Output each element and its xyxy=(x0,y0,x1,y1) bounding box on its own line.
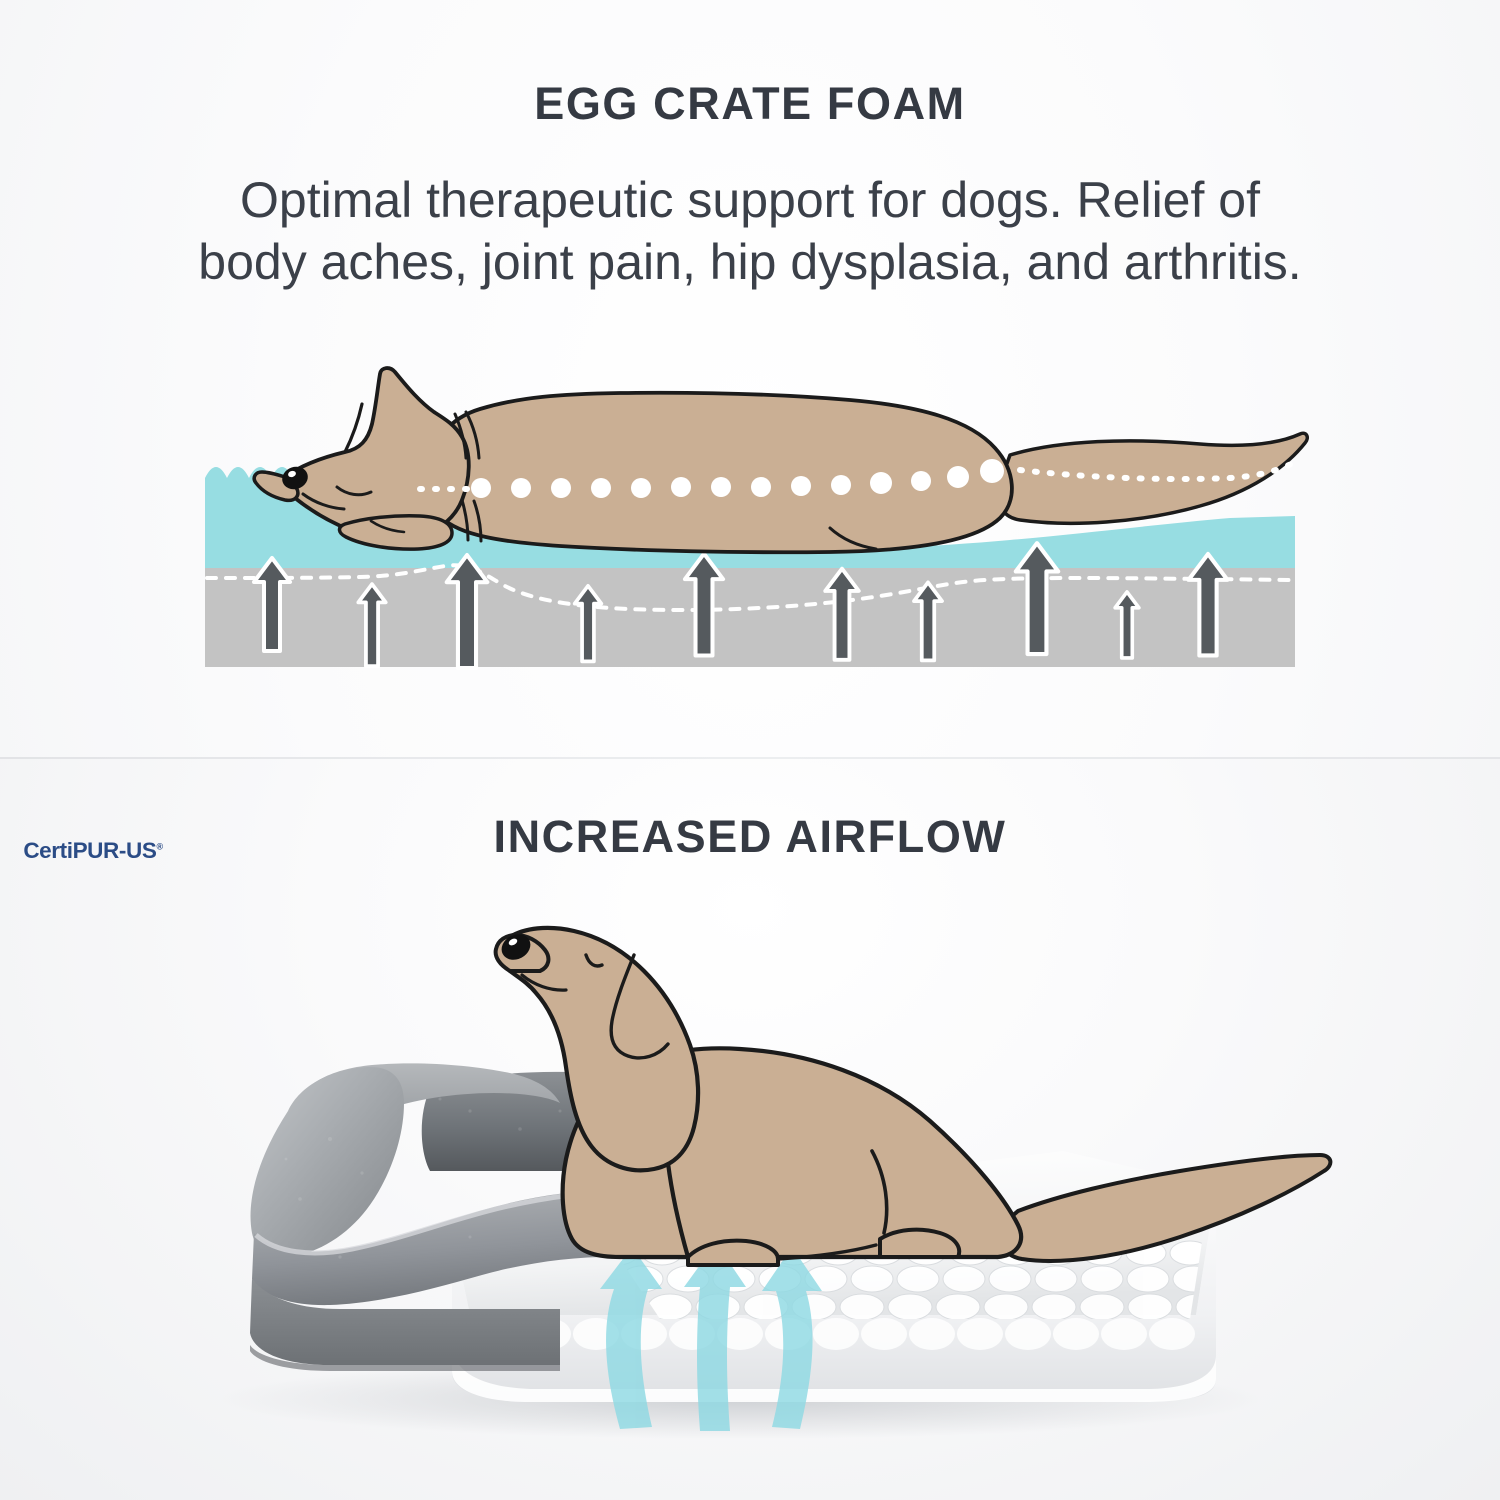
spine-dot xyxy=(791,476,811,496)
panel-egg-crate-foam: EGG CRATE FOAM Optimal therapeutic suppo… xyxy=(0,0,1500,757)
spine-dot xyxy=(471,478,491,498)
spine-dot xyxy=(751,477,771,497)
bolster-side-arm xyxy=(251,1067,405,1257)
egg-crate-front-bumps xyxy=(477,1318,1195,1350)
airflow-bed-illustration xyxy=(0,759,1500,1500)
panel-increased-airflow: INCREASED AIRFLOW xyxy=(0,759,1500,1500)
spine-dot xyxy=(831,475,851,495)
spine-dot xyxy=(591,478,611,498)
egg-crate-cross-section-illustration xyxy=(0,0,1500,757)
dog-hind-paw xyxy=(880,1230,959,1257)
spine-dot xyxy=(911,471,931,491)
spine-dot xyxy=(511,478,531,498)
infographic-page: EGG CRATE FOAM Optimal therapeutic suppo… xyxy=(0,0,1500,1500)
airflow-arrow-group xyxy=(600,1243,822,1431)
dog-lying-illustration xyxy=(254,368,1307,552)
spine-dot xyxy=(671,477,691,497)
spine-dot xyxy=(980,459,1004,483)
spine-dot xyxy=(631,478,651,498)
spine-dot xyxy=(551,478,571,498)
dog-sitting-illustration xyxy=(496,928,1331,1265)
spine-dot xyxy=(711,477,731,497)
spine-dot xyxy=(947,466,969,488)
spine-dot xyxy=(870,472,892,494)
